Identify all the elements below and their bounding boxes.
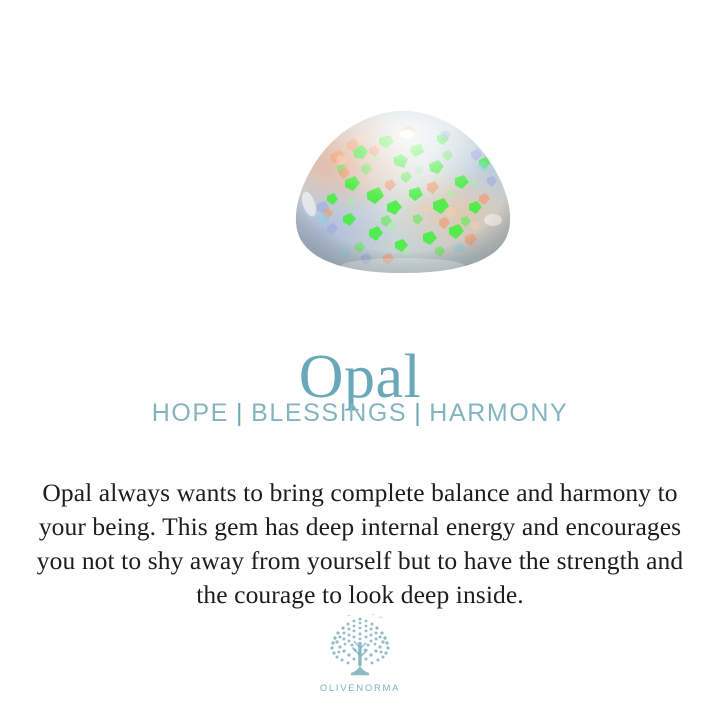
keyword-harmony: HARMONY [429,399,568,427]
keyword-separator: | [229,399,251,427]
gemstone-keywords: HOPE|BLESSINGS|HARMONY [0,398,720,428]
brand-wordmark: OLIVENORMA [0,683,720,694]
opal-gemstone-image [283,108,523,276]
keyword-separator: | [407,399,429,427]
gemstone-info-card: Opal HOPE|BLESSINGS|HARMONY Opal always … [0,0,720,720]
gemstone-description: Opal always wants to bring complete bala… [30,476,690,612]
tree-of-life-icon [321,610,399,682]
brand-logo: OLIVENORMA [0,610,720,694]
opal-cabochon-icon [283,108,523,276]
keyword-blessings: BLESSINGS [251,399,407,427]
keyword-hope: HOPE [152,399,229,427]
